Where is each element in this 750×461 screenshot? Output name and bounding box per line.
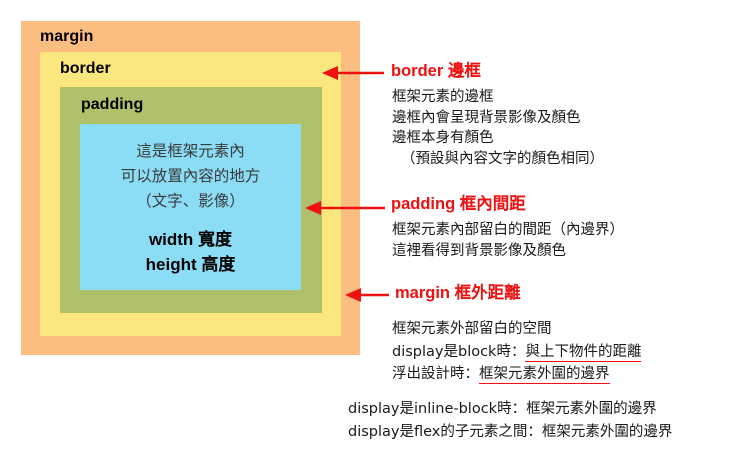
content-line-2: 可以放置內容的地方 — [80, 164, 301, 189]
annotation-margin-line-3: 浮出設計時：框架元素外圍的邊界 — [392, 363, 641, 386]
content-width-label: width 寬度 — [80, 227, 301, 252]
content-layer: 這是框架元素內 可以放置內容的地方 （文字、影像） width 寬度 heigh… — [80, 124, 301, 290]
annotation-border-line-4: （預設與內容文字的顏色相同） — [392, 149, 604, 170]
box-model-diagram: margin border padding 這是框架元素內 可以放置內容的地方 … — [21, 21, 360, 355]
annotation-heading-margin: margin 框外距離 — [395, 285, 521, 302]
bottom-note-line-2-underlined: 框架元素外圍的邊界 — [542, 424, 673, 440]
annotation-margin-line-2: display是block時：與上下物件的距離 — [392, 341, 641, 364]
border-label: border — [60, 61, 111, 77]
content-line-3: （文字、影像） — [80, 189, 301, 214]
annotation-padding-line-1: 框架元素內部留白的間距（內邊界） — [392, 220, 624, 241]
margin-callout-arrow-icon — [343, 284, 391, 306]
annotation-border-line-1: 框架元素的邊框 — [392, 87, 604, 108]
annotation-heading-padding: padding 框內間距 — [391, 196, 526, 213]
bottom-note-line-1-underlined: 框架元素外圍的邊界 — [526, 401, 657, 417]
annotation-body-margin: 框架元素外部留白的空間 display是block時：與上下物件的距離 浮出設計… — [392, 318, 641, 386]
border-layer: border padding 這是框架元素內 可以放置內容的地方 （文字、影像）… — [40, 52, 341, 336]
bottom-note-line-2-prefix: display是flex的子元素之間： — [348, 424, 542, 440]
annotation-margin-line-2-prefix: display是block時： — [392, 344, 525, 360]
bottom-notes: display是inline-block時：框架元素外圍的邊界 display是… — [348, 398, 672, 444]
padding-callout-arrow-icon — [303, 197, 387, 219]
margin-label: margin — [40, 29, 93, 45]
annotation-margin-line-1: 框架元素外部留白的空間 — [392, 318, 641, 341]
annotation-border-line-2: 邊框內會呈現背景影像及顏色 — [392, 108, 604, 129]
bottom-note-line-1-prefix: display是inline-block時： — [348, 401, 526, 417]
padding-layer: padding 這是框架元素內 可以放置內容的地方 （文字、影像） width … — [60, 87, 322, 313]
padding-label: padding — [81, 97, 143, 113]
border-callout-arrow-icon — [320, 62, 386, 84]
content-description: 這是框架元素內 可以放置內容的地方 （文字、影像） — [80, 124, 301, 214]
bottom-note-line-1: display是inline-block時：框架元素外圍的邊界 — [348, 398, 672, 421]
annotation-body-padding: 框架元素內部留白的間距（內邊界） 這裡看得到背景影像及顏色 — [392, 220, 624, 261]
content-line-1: 這是框架元素內 — [80, 139, 301, 164]
margin-layer: margin border padding 這是框架元素內 可以放置內容的地方 … — [21, 21, 360, 355]
annotation-padding-line-2: 這裡看得到背景影像及顏色 — [392, 241, 624, 262]
bottom-note-line-2: display是flex的子元素之間：框架元素外圍的邊界 — [348, 421, 672, 444]
content-height-label: height 高度 — [80, 252, 301, 277]
annotation-heading-border: border 邊框 — [391, 63, 481, 80]
content-dimensions: width 寬度 height 高度 — [80, 214, 301, 277]
annotation-margin-line-3-underlined: 框架元素外圍的邊界 — [479, 366, 610, 384]
annotation-margin-line-2-underlined: 與上下物件的距離 — [525, 344, 641, 362]
annotation-margin-line-3-prefix: 浮出設計時： — [392, 366, 479, 382]
annotation-border-line-3: 邊框本身有顏色 — [392, 128, 604, 149]
annotation-body-border: 框架元素的邊框 邊框內會呈現背景影像及顏色 邊框本身有顏色 （預設與內容文字的顏… — [392, 87, 604, 169]
